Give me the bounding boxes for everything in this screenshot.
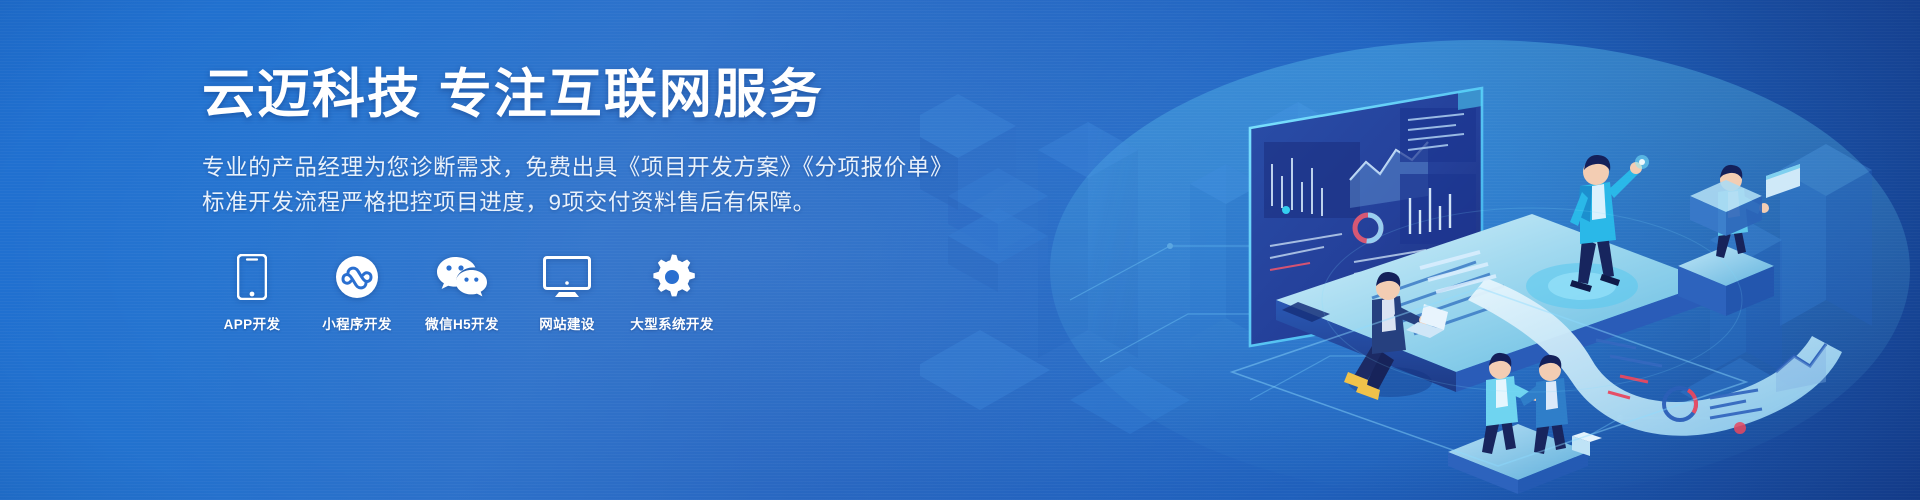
wechat-icon bbox=[436, 253, 488, 301]
service-item-app[interactable]: APP开发 bbox=[216, 253, 288, 333]
page-title: 云迈科技 专注互联网服务 bbox=[202, 66, 1102, 124]
service-item-website[interactable]: 网站建设 bbox=[531, 253, 603, 333]
gear-icon bbox=[649, 253, 695, 301]
service-item-large-system[interactable]: 大型系统开发 bbox=[636, 253, 708, 333]
monitor-icon bbox=[543, 253, 591, 301]
service-label-website: 网站建设 bbox=[539, 313, 595, 333]
subtitle-line-1: 专业的产品经理为您诊断需求，免费出具《项目开发方案》《分项报价单》 bbox=[202, 151, 1102, 186]
service-label-app: APP开发 bbox=[224, 313, 281, 333]
subtitle-line-2: 标准开发流程严格把控项目进度，9项交付资料售后有保障。 bbox=[202, 186, 1102, 221]
mini-program-icon bbox=[335, 253, 379, 301]
hero-banner: 云迈科技 专注互联网服务 专业的产品经理为您诊断需求，免费出具《项目开发方案》《… bbox=[0, 0, 1920, 500]
smartphone-icon bbox=[237, 253, 267, 301]
service-label-mini-program: 小程序开发 bbox=[322, 313, 392, 333]
service-item-wechat-h5[interactable]: 微信H5开发 bbox=[426, 253, 498, 333]
service-label-large-system: 大型系统开发 bbox=[630, 313, 713, 333]
service-list: APP开发 小程序开发 bbox=[202, 253, 1102, 333]
service-item-mini-program[interactable]: 小程序开发 bbox=[321, 253, 393, 333]
service-label-wechat-h5: 微信H5开发 bbox=[425, 313, 499, 333]
hero-subtitle: 专业的产品经理为您诊断需求，免费出具《项目开发方案》《分项报价单》 标准开发流程… bbox=[202, 151, 1102, 221]
hero-content: 云迈科技 专注互联网服务 专业的产品经理为您诊断需求，免费出具《项目开发方案》《… bbox=[202, 66, 1102, 333]
